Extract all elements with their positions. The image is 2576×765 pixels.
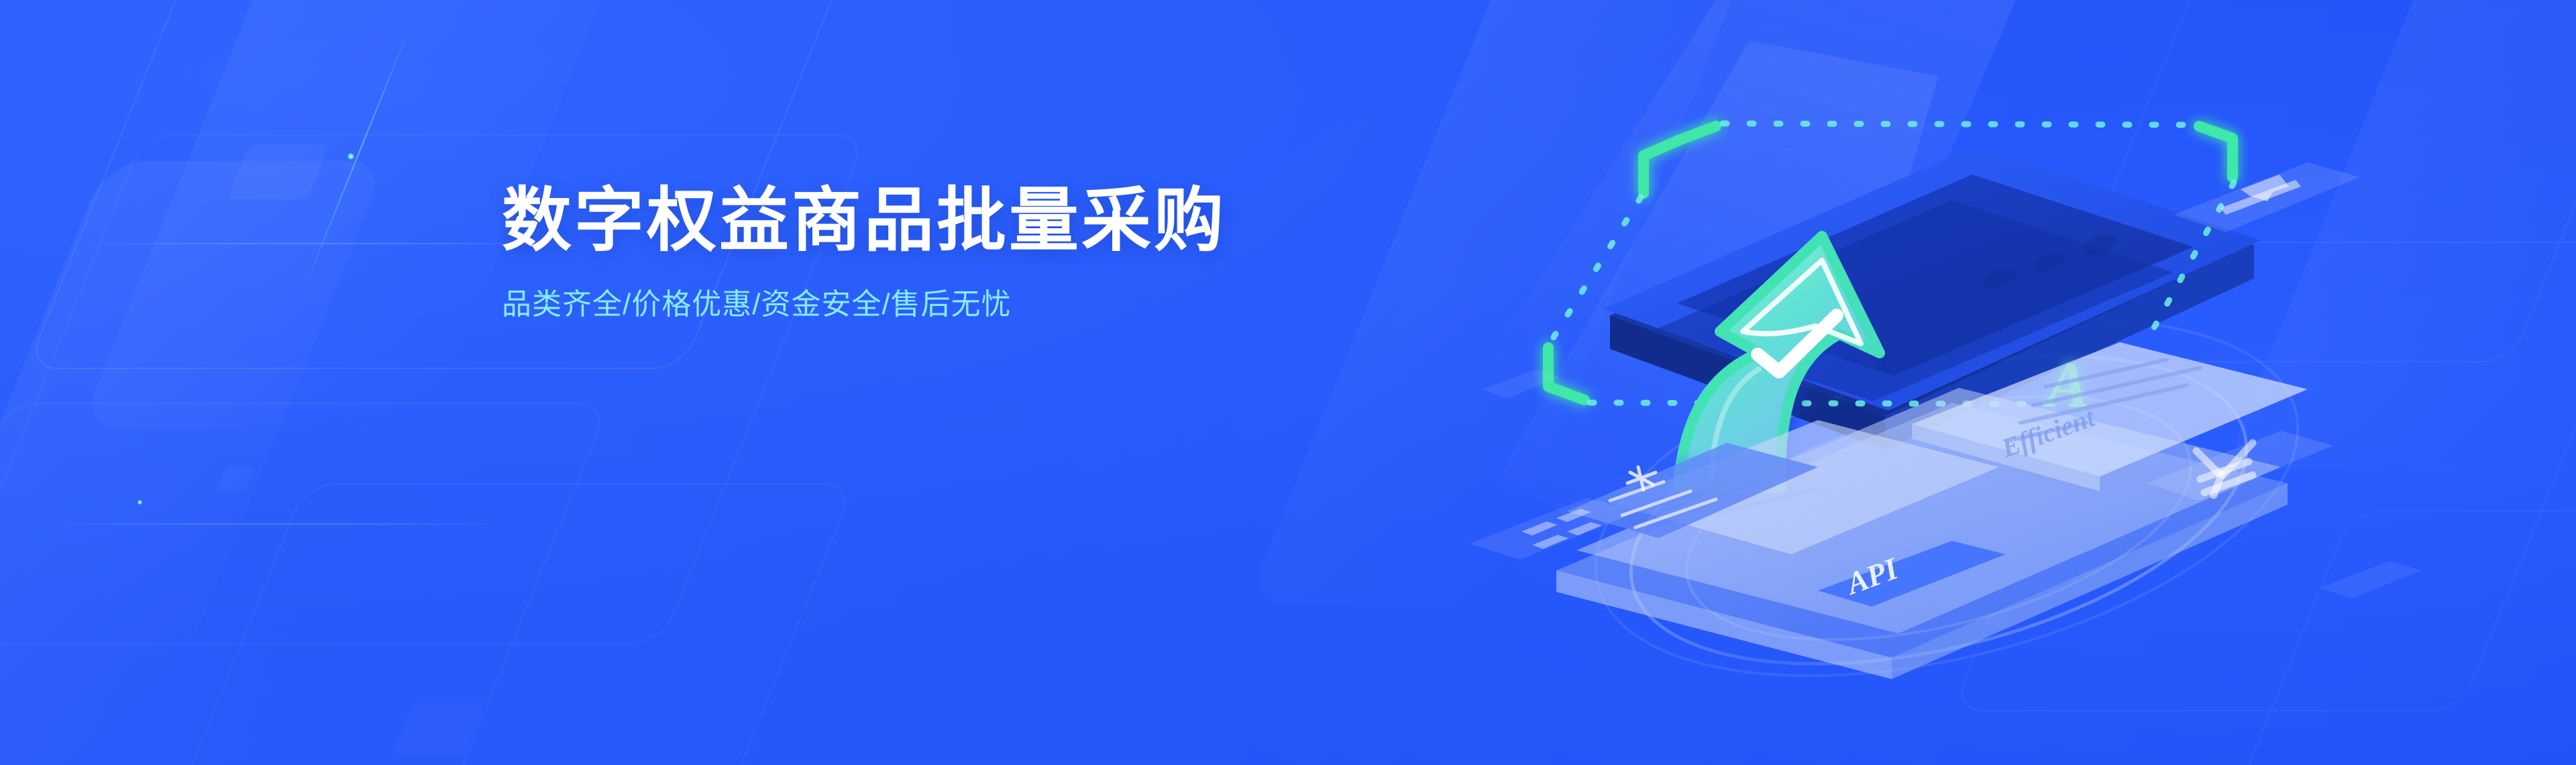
bg-spark-2: [138, 500, 142, 505]
bg-parallelogram-glow-2: [0, 161, 388, 765]
bg-hairline-1: [67, 243, 578, 244]
bg-tile-1: [227, 144, 329, 199]
hero-banner: 数字权益商品批量采购 品类齐全/价格优惠/资金安全/售后无忧: [0, 0, 2576, 765]
hero-illustration: A: [1442, 13, 2435, 752]
bg-diagonal-streak: [304, 27, 411, 289]
icon-tile-upload-share: [2173, 162, 2360, 232]
bg-hairline-2: [40, 523, 511, 525]
bg-tile-2: [392, 703, 486, 754]
page-subtitle: 品类齐全/价格优惠/资金安全/售后无忧: [502, 285, 1441, 323]
bg-spark-1: [347, 153, 354, 160]
bg-tile-3: [217, 467, 254, 490]
page-title: 数字权益商品批量采购: [502, 180, 1441, 262]
hero-copy: 数字权益商品批量采购 品类齐全/价格优惠/资金安全/售后无忧: [502, 180, 1441, 323]
bg-parallelogram-outline-4: [138, 483, 855, 765]
bg-parallelogram-outline-3: [0, 403, 610, 765]
